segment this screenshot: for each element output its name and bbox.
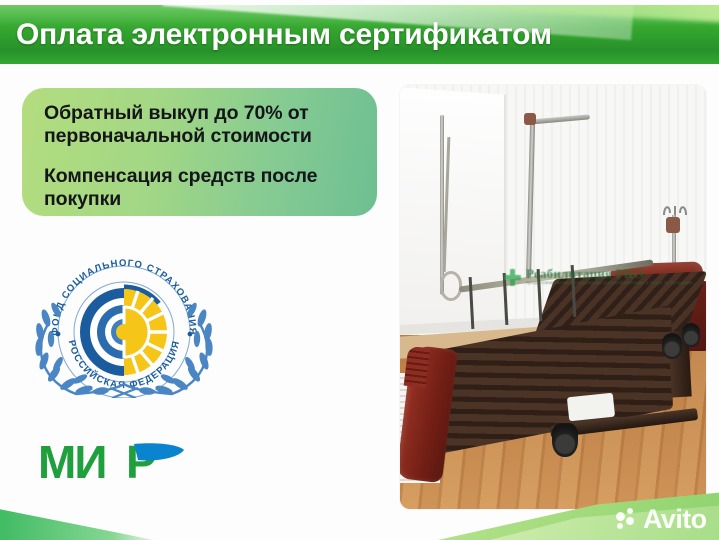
bed-caster	[662, 333, 682, 359]
mir-logo: МИ Р	[38, 436, 188, 488]
photo-wall-left-panel	[400, 87, 506, 338]
mir-logo-text-left: МИ	[38, 436, 105, 488]
iv-stand-collar	[666, 217, 680, 233]
bed-pole-clamp	[524, 113, 536, 125]
promo-line-buyback: Обратный выкуп до 70% от первоначальной …	[44, 102, 355, 149]
bed-lifting-handle	[440, 271, 462, 301]
bed-caster	[552, 423, 578, 457]
bed-caster	[682, 323, 700, 347]
bed-white-lever	[567, 393, 615, 422]
promo-benefits-box: Обратный выкуп до 70% от первоначальной …	[22, 88, 377, 216]
iv-stand-hooks	[662, 203, 688, 217]
mir-logo-swoosh	[134, 443, 184, 460]
page-title: Оплата электронным сертификатом	[0, 5, 719, 64]
promo-line-compensation: Компенсация средств после покупки	[44, 165, 355, 212]
fss-inner-disc	[80, 288, 167, 376]
product-photo[interactable]: Реабилитация PRO профессиональное оборуд…	[400, 85, 706, 509]
header-banner: Оплата электронным сертификатом	[0, 5, 719, 64]
advertisement-canvas: Оплата электронным сертификатом Обратный…	[0, 0, 719, 540]
fss-emblem: ФОНД СОЦИАЛЬНОГО СТРАХОВАНИЯ РОССИЙСКАЯ …	[18, 248, 230, 398]
decorative-ribbon-left	[0, 508, 164, 540]
